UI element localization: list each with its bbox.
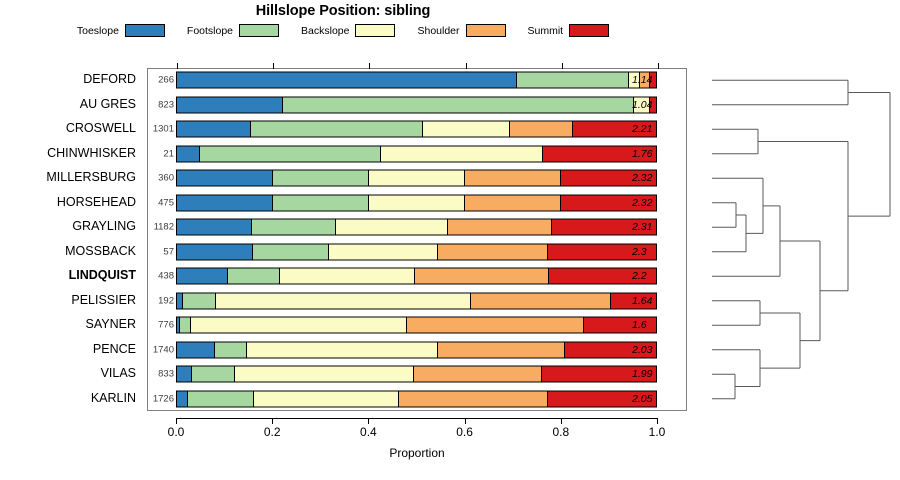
bar-segment-footslope (179, 317, 190, 334)
bar-segment-shoulder (464, 170, 560, 187)
bar-segment-backslope (246, 341, 437, 358)
bar-segment-backslope (368, 170, 464, 187)
bar-segment-footslope (252, 243, 328, 260)
bar-row: 8331.99 (147, 362, 687, 387)
category-label-deford: DEFORD (0, 72, 136, 86)
n-value: 475 (147, 197, 174, 208)
bar-segment-toeslope (176, 268, 227, 285)
h-value: 2.32 (629, 197, 681, 209)
stacked-bar (176, 121, 657, 138)
bar-segment-shoulder (398, 390, 546, 407)
bar-segment-footslope (227, 268, 279, 285)
n-value: 360 (147, 173, 174, 184)
bar-segment-backslope (234, 366, 413, 383)
h-value: 2.03 (629, 344, 681, 356)
bar-segment-shoulder (447, 219, 550, 236)
category-label-mossback: MOSSBACK (0, 244, 136, 258)
category-label-pelissier: PELISSIER (0, 293, 136, 307)
category-label-millersburg: MILLERSBURG (0, 170, 136, 184)
x-tick (368, 418, 369, 424)
bar-segment-shoulder (437, 243, 546, 260)
legend-entry-toeslope: Toeslope (77, 24, 165, 37)
x-tick (272, 418, 273, 424)
bar-segment-toeslope (176, 72, 516, 89)
stacked-bar (176, 390, 657, 407)
category-label-karlin: KARLIN (0, 391, 136, 405)
category-axis-labels: DEFORDAU GRESCROSWELLCHINWHISKERMILLERSB… (0, 68, 143, 411)
h-value: 1.14 (629, 74, 681, 86)
x-tick-label: 1.0 (627, 425, 687, 439)
bar-segment-footslope (214, 341, 246, 358)
stacked-bar (176, 170, 657, 187)
bar-segment-backslope (328, 243, 437, 260)
h-value: 2.3 (629, 246, 681, 258)
n-value: 57 (147, 246, 174, 257)
n-value: 1726 (147, 393, 174, 404)
h-value: 2.32 (629, 172, 681, 184)
legend-label: Toeslope (77, 25, 119, 37)
n-value: 776 (147, 320, 174, 331)
legend-entry-shoulder: Shoulder (417, 24, 505, 37)
bar-segment-backslope (422, 121, 509, 138)
n-value: 1182 (147, 222, 174, 233)
category-label-sayner: SAYNER (0, 317, 136, 331)
bar-row: 13012.21 (147, 117, 687, 142)
bar-segment-footslope (182, 292, 215, 309)
h-value: 1.04 (629, 99, 681, 111)
h-value: 2.21 (629, 123, 681, 135)
bar-segment-toeslope (176, 170, 272, 187)
stacked-bar (176, 72, 657, 89)
bar-segment-footslope (282, 96, 633, 113)
h-value: 2.2 (629, 270, 681, 282)
n-value: 21 (147, 148, 174, 159)
bar-segment-toeslope (176, 366, 191, 383)
bar-segment-backslope (279, 268, 414, 285)
category-label-lindquist: LINDQUIST (0, 268, 136, 282)
bar-segment-toeslope (176, 341, 214, 358)
dendrogram (690, 60, 900, 420)
bar-row: 8231.04 (147, 93, 687, 118)
bar-row: 4382.2 (147, 264, 687, 289)
bar-segment-shoulder (470, 292, 610, 309)
legend-entry-backslope: Backslope (301, 24, 395, 37)
legend-swatch-backslope (355, 24, 395, 37)
x-tick-label: 0.2 (242, 425, 302, 439)
h-value: 1.99 (629, 368, 681, 380)
h-value: 1.6 (629, 319, 681, 331)
x-tick (176, 418, 177, 424)
n-value: 192 (147, 295, 174, 306)
bar-segment-toeslope (176, 145, 199, 162)
chart-figure: Hillslope Position: sibling ToeslopeFoot… (0, 0, 900, 480)
category-label-croswell: CROSWELL (0, 121, 136, 135)
x-tick-label: 0.6 (435, 425, 495, 439)
n-value: 1301 (147, 124, 174, 135)
bar-segment-backslope (368, 194, 464, 211)
x-tick-label: 0.8 (531, 425, 591, 439)
stacked-bar-rows: 2661.148231.0413012.21211.763602.324752.… (147, 68, 687, 411)
stacked-bar (176, 268, 657, 285)
bar-row: 7761.6 (147, 313, 687, 338)
legend-swatch-footslope (239, 24, 279, 37)
legend-entry-footslope: Footslope (187, 24, 279, 37)
category-label-au-gres: AU GRES (0, 97, 136, 111)
legend-label: Summit (528, 25, 564, 37)
x-tick (657, 418, 658, 424)
bar-segment-backslope (253, 390, 398, 407)
x-tick-label: 0.0 (146, 425, 206, 439)
stacked-bar (176, 243, 657, 260)
bar-segment-footslope (199, 145, 380, 162)
x-tick (561, 418, 562, 424)
bar-segment-shoulder (464, 194, 560, 211)
stacked-bar (176, 292, 657, 309)
bar-row: 1921.64 (147, 289, 687, 314)
stacked-bar (176, 317, 657, 334)
h-value: 2.05 (629, 393, 681, 405)
bar-segment-backslope (380, 145, 541, 162)
x-axis-title: Proportion (147, 446, 687, 460)
stacked-bar (176, 341, 657, 358)
bar-segment-toeslope (176, 243, 252, 260)
bar-segment-footslope (272, 194, 368, 211)
bar-segment-footslope (187, 390, 253, 407)
category-label-pence: PENCE (0, 342, 136, 356)
n-value: 823 (147, 99, 174, 110)
bar-segment-toeslope (176, 390, 187, 407)
n-value: 438 (147, 271, 174, 282)
legend-entry-summit: Summit (528, 24, 610, 37)
category-label-grayling: GRAYLING (0, 219, 136, 233)
bar-segment-backslope (215, 292, 470, 309)
x-tick (465, 418, 466, 424)
legend-label: Backslope (301, 25, 349, 37)
legend-label: Footslope (187, 25, 233, 37)
bar-segment-footslope (251, 219, 335, 236)
bar-row: 211.76 (147, 142, 687, 167)
stacked-bar (176, 219, 657, 236)
legend: ToeslopeFootslopeBackslopeShoulderSummit (0, 24, 686, 37)
bar-segment-shoulder (509, 121, 572, 138)
bar-row: 3602.32 (147, 166, 687, 191)
bar-row: 572.3 (147, 240, 687, 265)
n-value: 266 (147, 75, 174, 86)
stacked-bar (176, 194, 657, 211)
bar-segment-shoulder (413, 366, 541, 383)
bar-segment-toeslope (176, 219, 251, 236)
bar-segment-toeslope (176, 121, 250, 138)
x-axis-line (176, 418, 657, 419)
h-value: 1.64 (629, 295, 681, 307)
bar-row: 17402.03 (147, 338, 687, 363)
bar-segment-footslope (191, 366, 234, 383)
bar-row: 2661.14 (147, 68, 687, 93)
bar-segment-footslope (250, 121, 422, 138)
legend-swatch-summit (569, 24, 609, 37)
bar-segment-shoulder (414, 268, 548, 285)
bar-segment-backslope (190, 317, 406, 334)
bar-segment-shoulder (437, 341, 564, 358)
bar-segment-toeslope (176, 96, 282, 113)
x-tick-label: 0.4 (338, 425, 398, 439)
bar-segment-footslope (272, 170, 368, 187)
stacked-bar (176, 366, 657, 383)
page-title: Hillslope Position: sibling (0, 3, 686, 19)
stacked-bar (176, 145, 657, 162)
bar-row: 17262.05 (147, 387, 687, 412)
bar-segment-shoulder (406, 317, 583, 334)
bar-row: 4752.32 (147, 191, 687, 216)
bar-segment-backslope (335, 219, 448, 236)
n-value: 833 (147, 369, 174, 380)
h-value: 1.76 (629, 148, 681, 160)
category-label-chinwhisker: CHINWHISKER (0, 146, 136, 160)
bar-segment-footslope (516, 72, 628, 89)
legend-label: Shoulder (417, 25, 459, 37)
category-label-vilas: VILAS (0, 366, 136, 380)
category-label-horsehead: HORSEHEAD (0, 195, 136, 209)
h-value: 2.31 (629, 221, 681, 233)
legend-swatch-shoulder (466, 24, 506, 37)
stacked-bar (176, 96, 657, 113)
bar-row: 11822.31 (147, 215, 687, 240)
n-value: 1740 (147, 344, 174, 355)
bar-segment-toeslope (176, 194, 272, 211)
x-axis: 0.00.20.40.60.81.0 (147, 411, 687, 451)
legend-swatch-toeslope (125, 24, 165, 37)
